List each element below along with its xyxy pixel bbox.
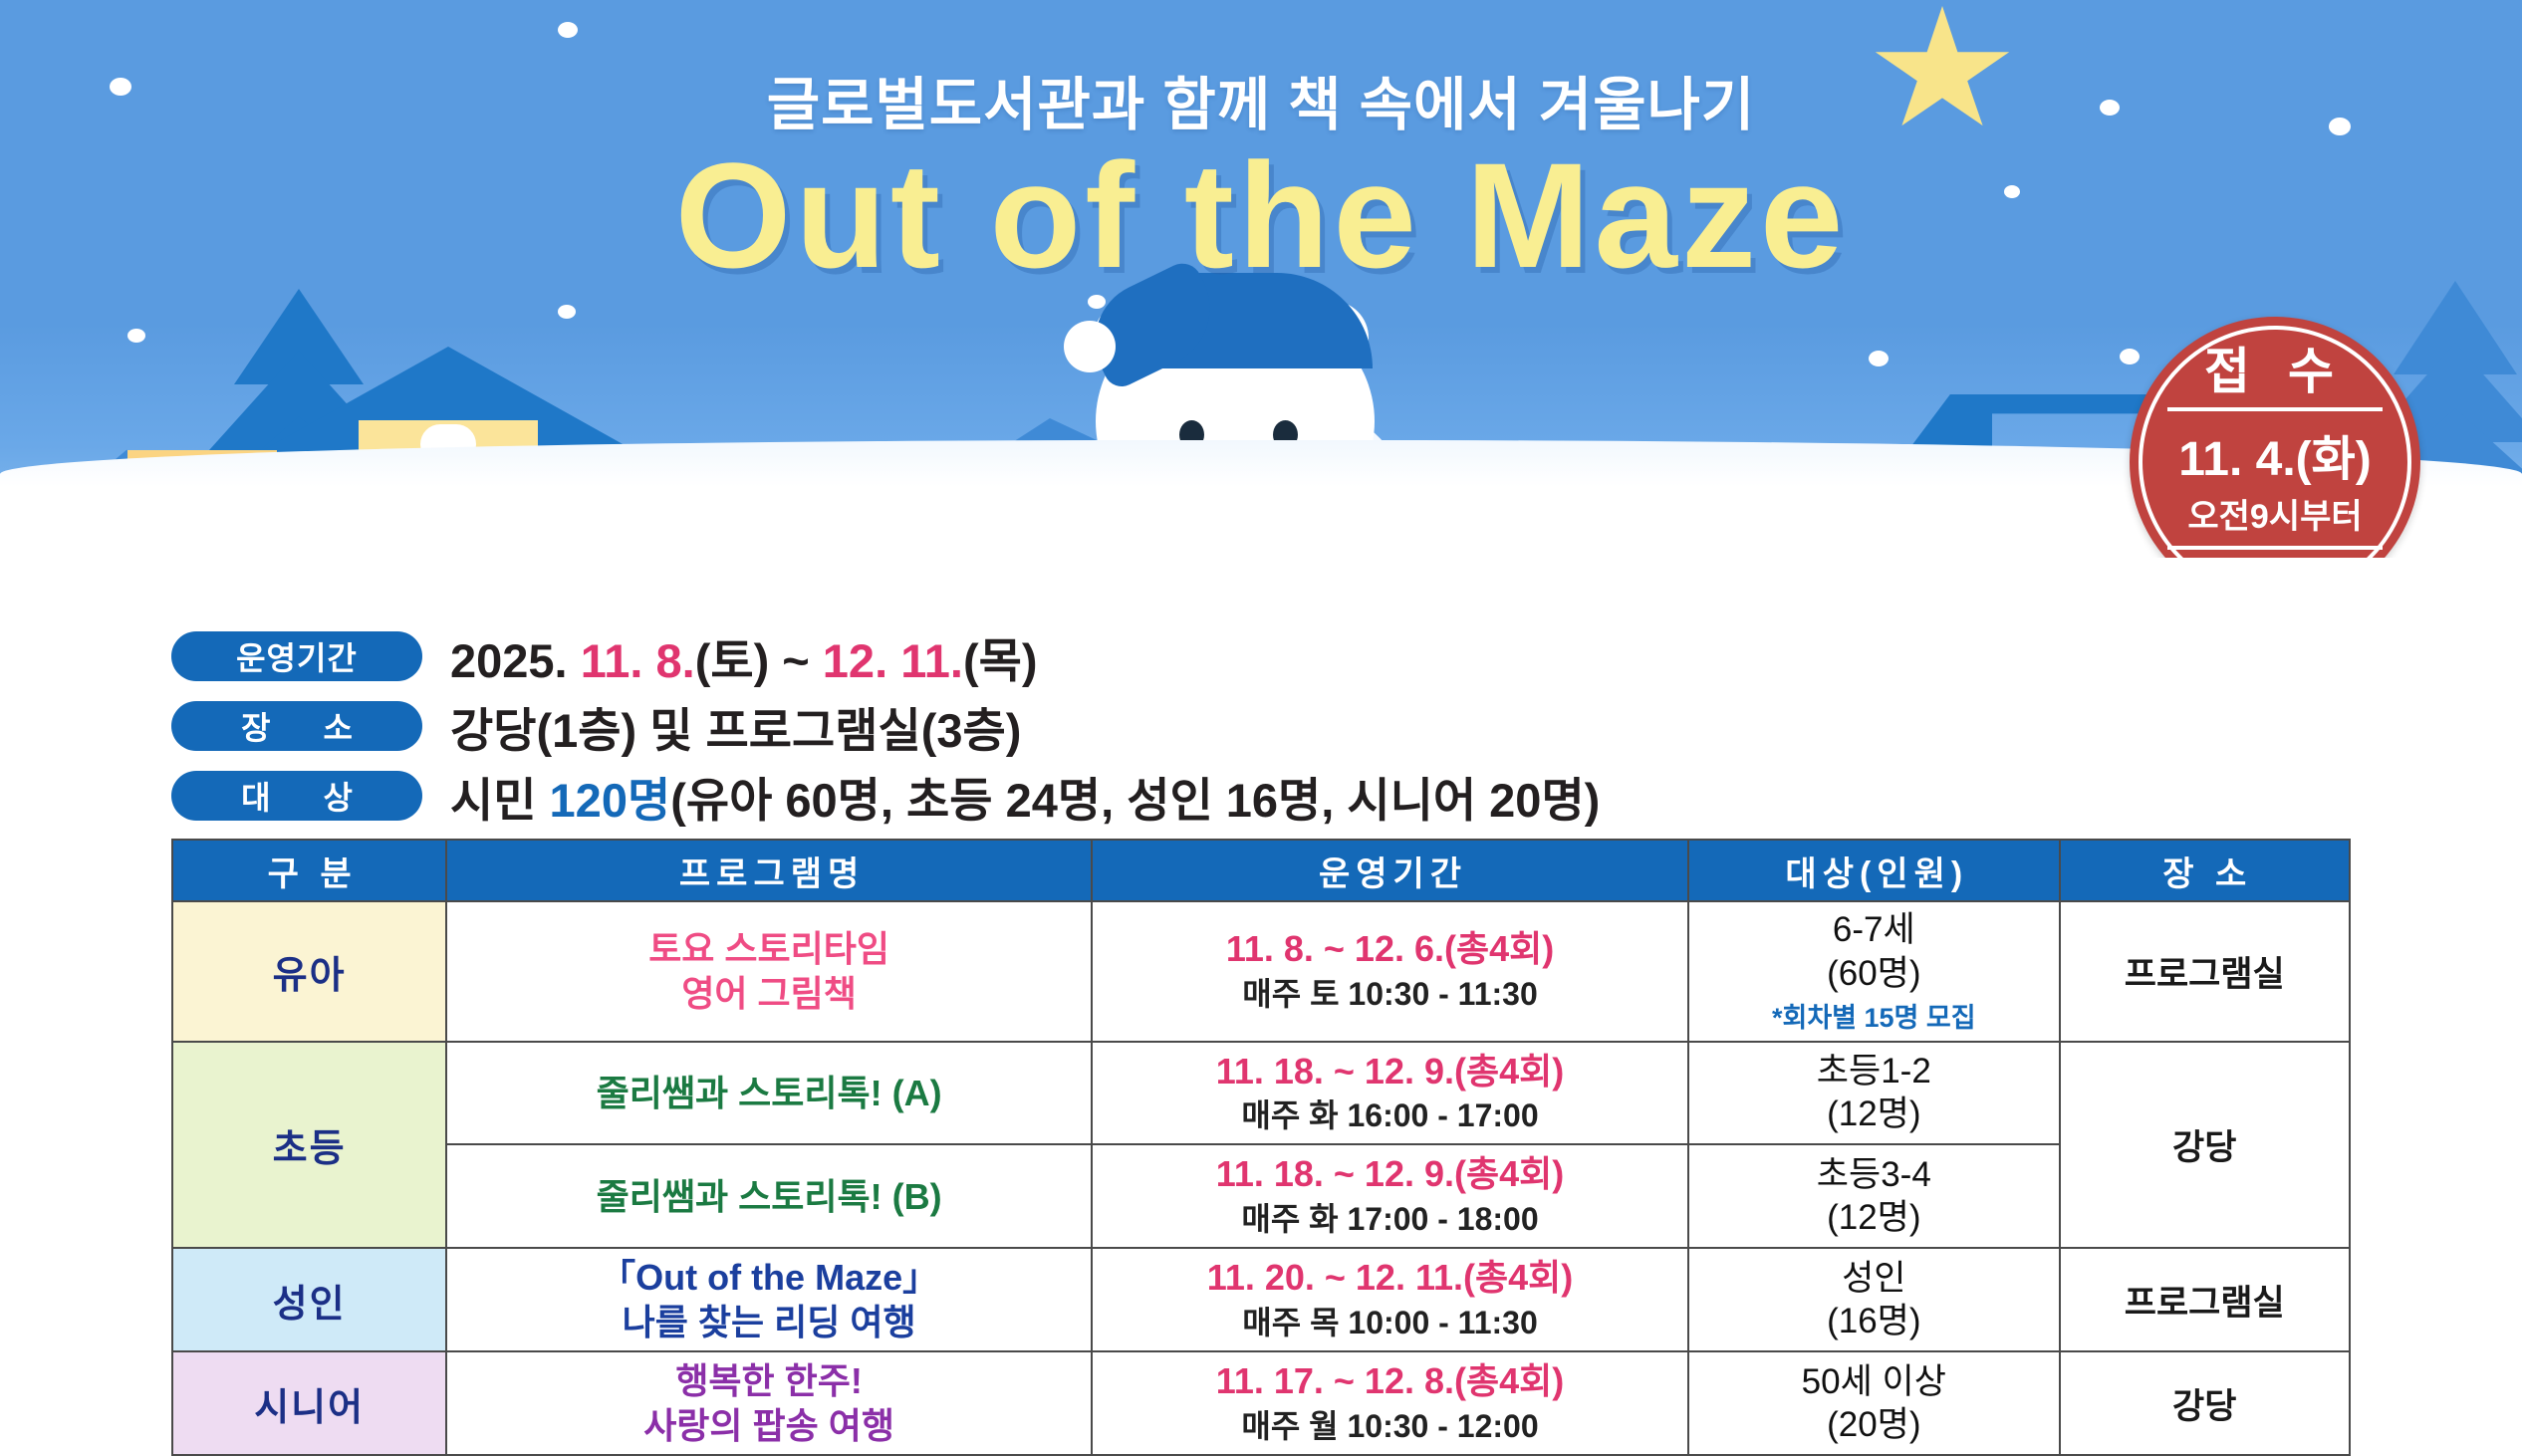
info-value: 강당(1층) 및 프로그램실(3층): [450, 692, 1021, 761]
category-cell: 성인: [172, 1248, 446, 1351]
target-line: (60명): [1693, 952, 2054, 996]
program-name-line: 영어 그림책: [451, 971, 1087, 1016]
table-row: 시니어행복한 한주!사랑의 팝송 여행11. 17. ~ 12. 8.(총4회)…: [172, 1351, 2350, 1455]
table-row: 유아토요 스토리타임영어 그림책11. 8. ~ 12. 6.(총4회)매주 토…: [172, 901, 2350, 1042]
table-col-header: 프로그램명: [446, 840, 1092, 901]
program-cell: 행복한 한주!사랑의 팝송 여행: [446, 1351, 1092, 1455]
period-cell: 11. 20. ~ 12. 11.(총4회)매주 목 10:00 - 11:30: [1092, 1248, 1688, 1351]
snow-dot: [1869, 351, 1889, 366]
category-cell: 초등: [172, 1042, 446, 1249]
period-cell: 11. 8. ~ 12. 6.(총4회)매주 토 10:30 - 11:30: [1092, 901, 1688, 1042]
info-label-pill: 대 상: [171, 771, 422, 821]
info-text-part: 12. 11.: [823, 634, 963, 687]
snow-dot: [558, 305, 576, 319]
target-line: 성인: [1693, 1257, 2054, 1301]
program-cell: 줄리쌤과 스토리톡! (B): [446, 1144, 1092, 1248]
program-schedule-table: 구 분프로그램명운영기간대상(인원)장 소 유아토요 스토리타임영어 그림책11…: [171, 839, 2351, 1456]
place-cell: 강당: [2060, 1351, 2350, 1455]
target-line: 6-7세: [1693, 908, 2054, 952]
poster-title: Out of the Maze: [0, 129, 2522, 302]
program-cell: 줄리쌤과 스토리톡! (A): [446, 1042, 1092, 1145]
target-line: 초등1-2: [1693, 1050, 2054, 1093]
target-line: 초등3-4: [1693, 1153, 2054, 1197]
target-note: *회차별 15명 모집: [1693, 996, 2054, 1035]
table-col-header: 운영기간: [1092, 840, 1688, 901]
program-name-line: 토요 스토리타임: [451, 926, 1087, 971]
info-label-pill: 장 소: [171, 701, 422, 751]
target-cell: 초등1-2(12명): [1688, 1042, 2059, 1145]
target-cell: 초등3-4(12명): [1688, 1144, 2059, 1248]
program-name-line: 사랑의 팝송 여행: [451, 1403, 1087, 1448]
table-row: 성인「Out of the Maze」나를 찾는 리딩 여행11. 20. ~ …: [172, 1248, 2350, 1351]
stamp-ring: [2139, 326, 2411, 558]
target-line: (20명): [1693, 1403, 2054, 1447]
period-time: 매주 토 10:30 - 11:30: [1097, 973, 1683, 1016]
info-text-part: (유아 60명, 초등 24명, 성인 16명, 시니어 20명): [670, 774, 1600, 827]
program-name-line: 「Out of the Maze」: [451, 1255, 1087, 1300]
info-text-part: (목): [963, 634, 1038, 687]
table-col-header: 대상(인원): [1688, 840, 2059, 901]
target-line: 50세 이상: [1693, 1360, 2054, 1404]
info-row: 장 소강당(1층) 및 프로그램실(3층): [171, 695, 2363, 757]
program-name-line: 줄리쌤과 스토리톡! (A): [451, 1071, 1087, 1115]
period-range: 11. 20. ~ 12. 11.(총4회): [1097, 1255, 1683, 1302]
info-value: 2025. 11. 8.(토) ~ 12. 11.(목): [450, 622, 1037, 691]
info-text-part: (토) ~: [695, 634, 823, 687]
info-row: 대 상시민 120명(유아 60명, 초등 24명, 성인 16명, 시니어 2…: [171, 765, 2363, 827]
period-time: 매주 월 10:30 - 12:00: [1097, 1405, 1683, 1448]
program-name-line: 행복한 한주!: [451, 1358, 1087, 1403]
table-row: 줄리쌤과 스토리톡! (B)11. 18. ~ 12. 9.(총4회)매주 화 …: [172, 1144, 2350, 1248]
snow-dot: [2120, 349, 2140, 364]
table-col-header: 장 소: [2060, 840, 2350, 901]
target-line: (12명): [1693, 1196, 2054, 1240]
period-cell: 11. 18. ~ 12. 9.(총4회)매주 화 16:00 - 17:00: [1092, 1042, 1688, 1145]
target-cell: 6-7세(60명)*회차별 15명 모집: [1688, 901, 2059, 1042]
period-range: 11. 18. ~ 12. 9.(총4회): [1097, 1049, 1683, 1095]
table-row: 초등줄리쌤과 스토리톡! (A)11. 18. ~ 12. 9.(총4회)매주 …: [172, 1042, 2350, 1145]
period-range: 11. 8. ~ 12. 6.(총4회): [1097, 926, 1683, 973]
info-value: 시민 120명(유아 60명, 초등 24명, 성인 16명, 시니어 20명): [450, 762, 1600, 831]
table-body: 유아토요 스토리타임영어 그림책11. 8. ~ 12. 6.(총4회)매주 토…: [172, 901, 2350, 1455]
info-text-part: 11. 8.: [581, 634, 695, 687]
info-text-part: 시민: [450, 774, 550, 827]
period-time: 매주 화 17:00 - 18:00: [1097, 1198, 1683, 1241]
info-block: 운영기간2025. 11. 8.(토) ~ 12. 11.(목)장 소강당(1층…: [171, 625, 2363, 835]
category-cell: 시니어: [172, 1351, 446, 1455]
info-text-part: 강당(1층) 및 프로그램실(3층): [450, 704, 1021, 757]
snow-dot: [558, 22, 578, 38]
period-time: 매주 화 16:00 - 17:00: [1097, 1094, 1683, 1137]
info-text-part: 2025.: [450, 634, 581, 687]
bear-hat-pompom: [1064, 321, 1116, 372]
program-cell: 「Out of the Maze」나를 찾는 리딩 여행: [446, 1248, 1092, 1351]
place-cell: 강당: [2060, 1042, 2350, 1249]
target-cell: 50세 이상(20명): [1688, 1351, 2059, 1455]
period-range: 11. 18. ~ 12. 9.(총4회): [1097, 1151, 1683, 1198]
hero-banner: 글로벌도서관과 함께 책 속에서 겨울나기 Out of the Maze 접 …: [0, 0, 2522, 558]
program-name-line: 나를 찾는 리딩 여행: [451, 1300, 1087, 1344]
period-cell: 11. 18. ~ 12. 9.(총4회)매주 화 17:00 - 18:00: [1092, 1144, 1688, 1248]
table-col-header: 구 분: [172, 840, 446, 901]
program-name-line: 줄리쌤과 스토리톡! (B): [451, 1174, 1087, 1219]
info-row: 운영기간2025. 11. 8.(토) ~ 12. 11.(목): [171, 625, 2363, 687]
period-time: 매주 목 10:00 - 11:30: [1097, 1302, 1683, 1344]
program-cell: 토요 스토리타임영어 그림책: [446, 901, 1092, 1042]
place-cell: 프로그램실: [2060, 901, 2350, 1042]
category-cell: 유아: [172, 901, 446, 1042]
table-header-row: 구 분프로그램명운영기간대상(인원)장 소: [172, 840, 2350, 901]
info-text-part: 120명: [550, 774, 671, 827]
period-cell: 11. 17. ~ 12. 8.(총4회)매주 월 10:30 - 12:00: [1092, 1351, 1688, 1455]
table-head: 구 분프로그램명운영기간대상(인원)장 소: [172, 840, 2350, 901]
target-cell: 성인(16명): [1688, 1248, 2059, 1351]
target-line: (16명): [1693, 1300, 2054, 1343]
period-range: 11. 17. ~ 12. 8.(총4회): [1097, 1358, 1683, 1405]
info-label-pill: 운영기간: [171, 631, 422, 681]
place-cell: 프로그램실: [2060, 1248, 2350, 1351]
target-line: (12명): [1693, 1092, 2054, 1136]
